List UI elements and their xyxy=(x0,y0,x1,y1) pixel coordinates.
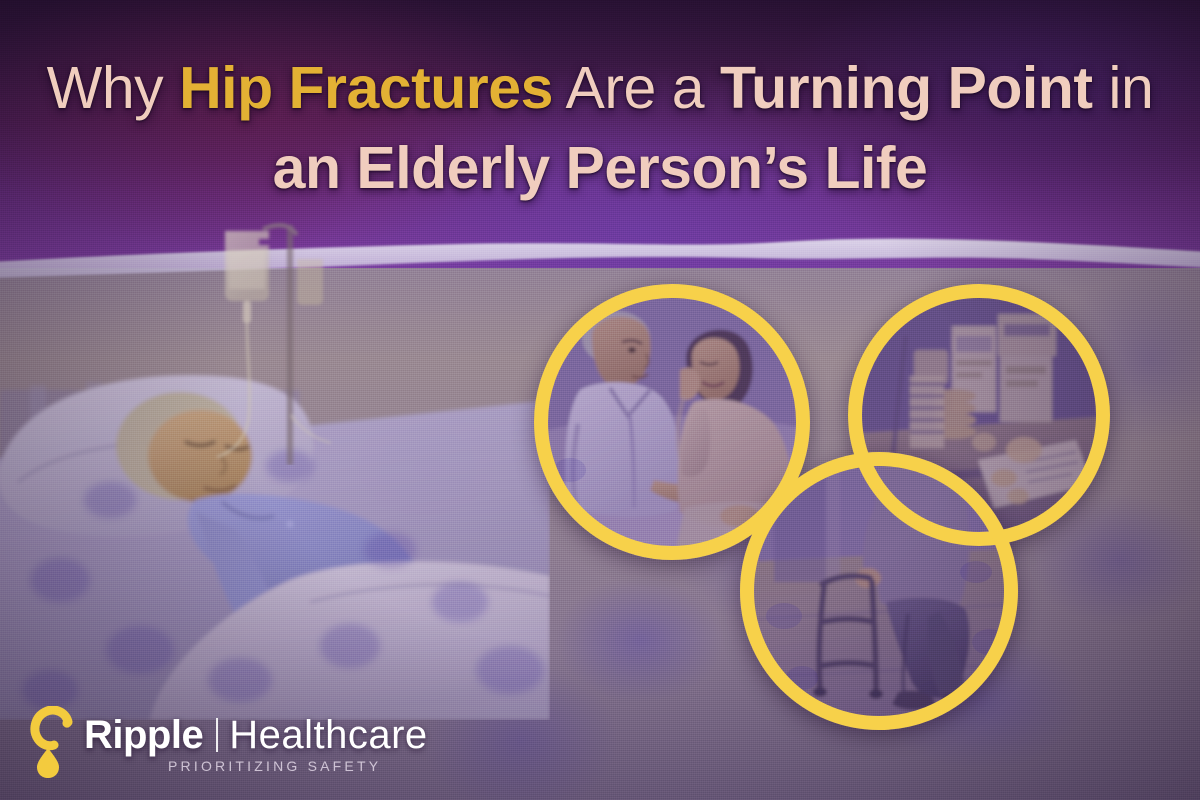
headline-line-2: an Elderly Person’s Life xyxy=(0,138,1200,198)
headline-word-in: in xyxy=(1093,55,1154,121)
headline-line-1: Why Hip Fractures Are a Turning Point in xyxy=(0,58,1200,118)
headline-word-are-a: Are a xyxy=(553,55,720,121)
ripple-mark-icon xyxy=(30,706,76,782)
brand-divider xyxy=(216,718,218,752)
brand-name-secondary: Healthcare xyxy=(229,713,427,758)
brand-tagline: PRIORITIZING SAFETY xyxy=(168,758,381,774)
brand-name-primary: Ripple xyxy=(84,713,203,758)
page-title: Why Hip Fractures Are a Turning Point in… xyxy=(0,58,1200,198)
brand-logo[interactable]: Ripple Healthcare PRIORITIZING SAFETY xyxy=(30,706,428,782)
walker-mobility-photo xyxy=(740,452,1018,730)
headline-word-turning-point: Turning Point xyxy=(720,55,1093,121)
healthcare-article-banner: Why Hip Fractures Are a Turning Point in… xyxy=(0,0,1200,800)
brand-wordmark: Ripple Healthcare xyxy=(84,713,428,758)
brand-text-block: Ripple Healthcare PRIORITIZING SAFETY xyxy=(84,713,428,776)
iv-drip-and-pole xyxy=(205,215,385,465)
headline-word-why: Why xyxy=(47,55,179,121)
headline-word-hip-fractures: Hip Fractures xyxy=(179,55,553,121)
